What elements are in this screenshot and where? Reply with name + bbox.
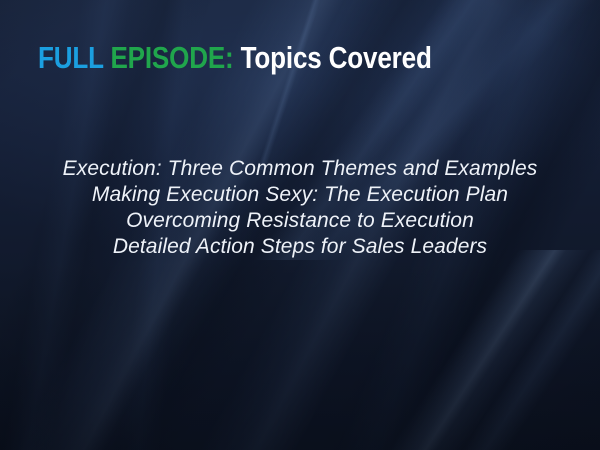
topics-list: Execution: Three Common Themes and Examp… xyxy=(0,156,600,260)
topic-line: Execution: Three Common Themes and Examp… xyxy=(0,156,600,182)
presentation-slide: FULL EPISODE: Topics Covered Execution: … xyxy=(0,0,600,450)
topic-line: Overcoming Resistance to Execution xyxy=(0,208,600,234)
slide-title: FULL EPISODE: Topics Covered xyxy=(38,41,432,75)
title-segment-episode: EPISODE: xyxy=(110,40,233,75)
topic-line: Making Execution Sexy: The Execution Pla… xyxy=(0,182,600,208)
slide-content: FULL EPISODE: Topics Covered Execution: … xyxy=(0,0,600,450)
title-segment-rest: Topics Covered xyxy=(234,40,432,75)
title-segment-full: FULL xyxy=(38,40,110,75)
topic-line: Detailed Action Steps for Sales Leaders xyxy=(0,234,600,260)
